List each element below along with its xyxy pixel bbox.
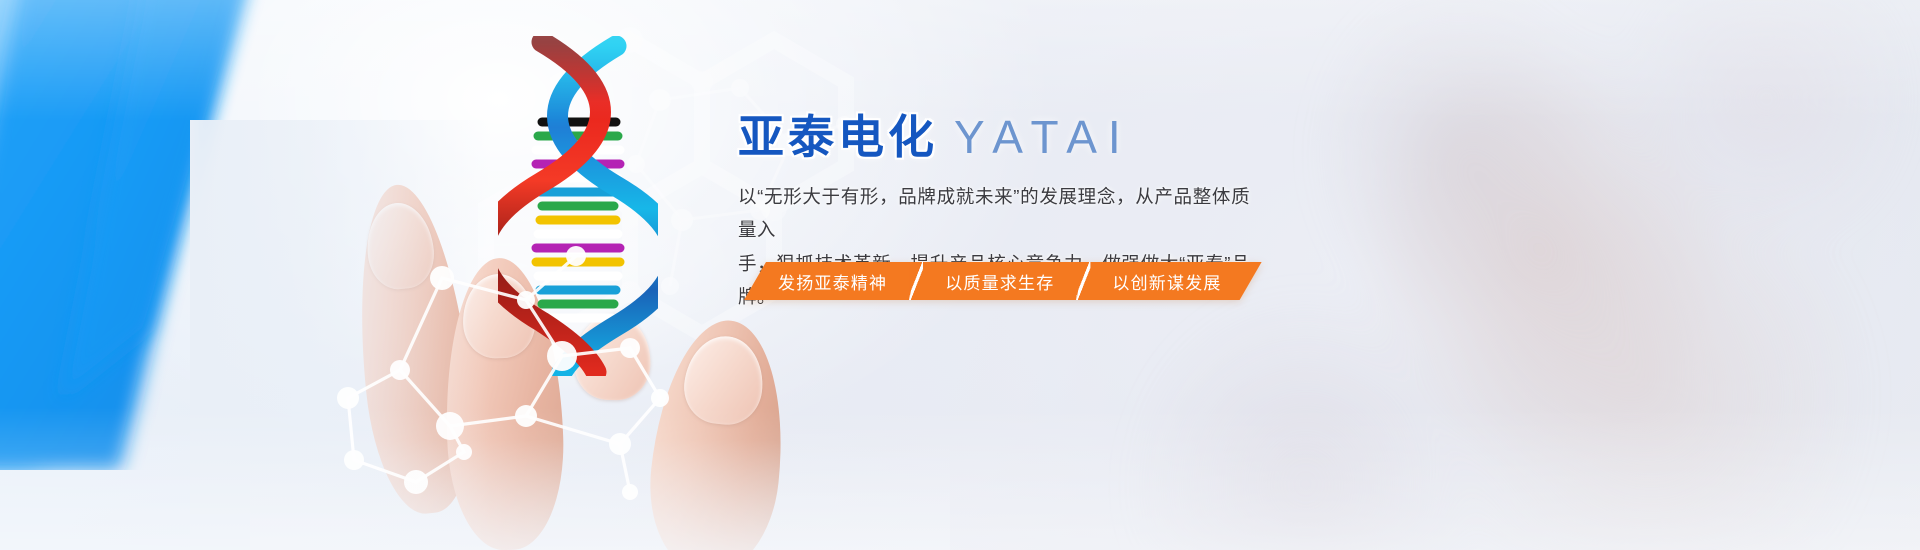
promo-banner: 亚泰电化YATAI 以“无形大于有形，品牌成就未来”的发展理念，从产品整体质量入… (0, 0, 1920, 550)
slogan-tag-2[interactable]: 以质量求生存 (923, 262, 1076, 300)
slogan-tag-1[interactable]: 发扬亚泰精神 (744, 262, 909, 300)
slogan-tag-2-label: 以质量求生存 (945, 269, 1054, 294)
tag-separator (909, 262, 924, 300)
title-english: YATAI (954, 111, 1132, 163)
slogan-tag-3-label: 以创新谋发展 (1112, 269, 1221, 294)
title-chinese: 亚泰电化 (738, 111, 938, 163)
slogan-tag-3[interactable]: 以创新谋发展 (1090, 262, 1261, 300)
description-line-1: 以“无形大于有形，品牌成就未来”的发展理念，从产品整体质量入 (738, 180, 1250, 247)
slogan-tag-1-label: 发扬亚泰精神 (778, 269, 887, 294)
slogan-tag-group: 发扬亚泰精神 以质量求生存 以创新谋发展 (744, 262, 1262, 300)
tag-separator (1076, 262, 1091, 300)
page-title: 亚泰电化YATAI (738, 112, 1478, 164)
